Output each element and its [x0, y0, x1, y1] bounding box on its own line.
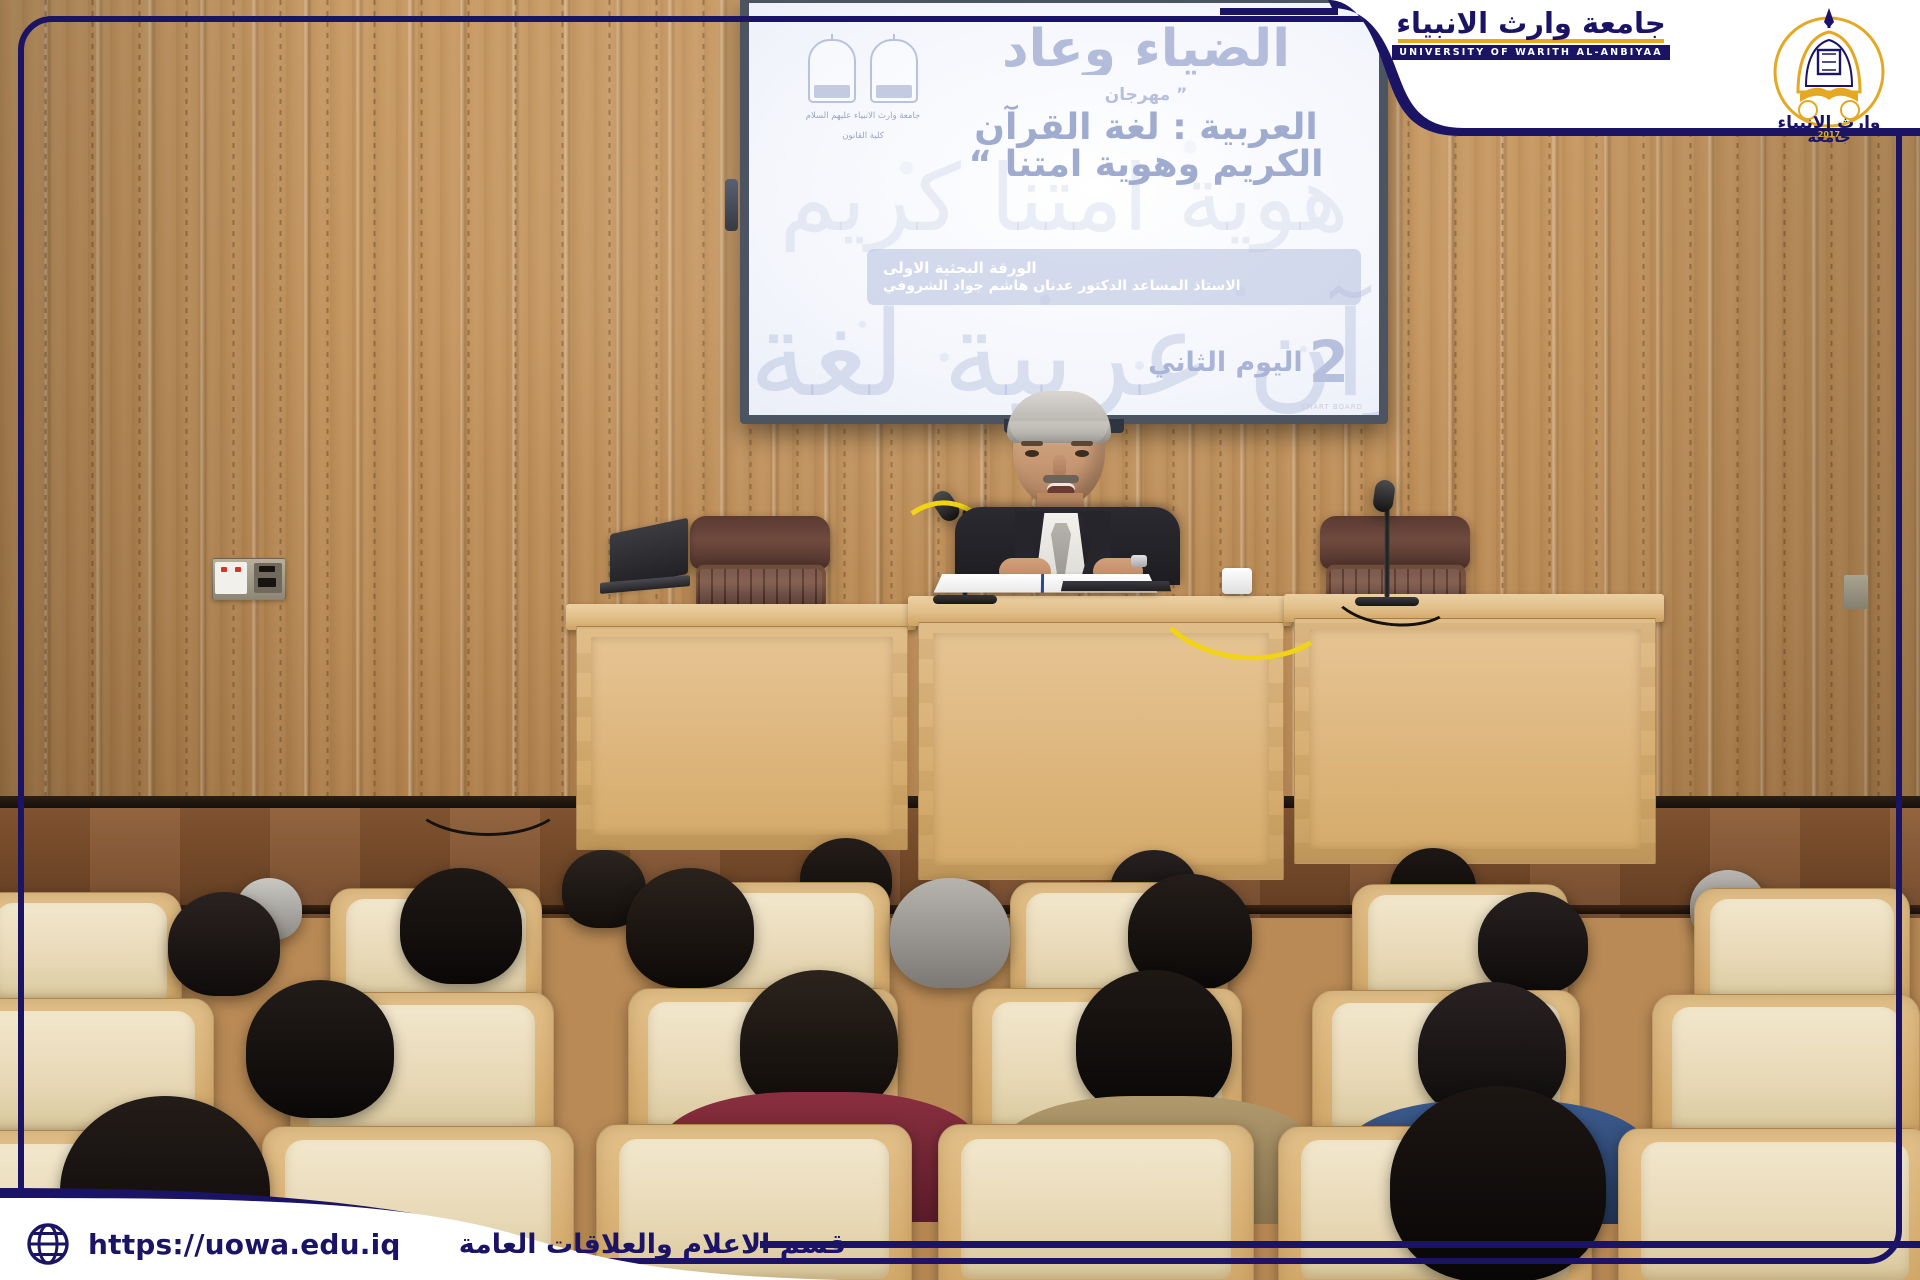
auditorium-seat: [1618, 1128, 1920, 1280]
audience-head: [1478, 892, 1588, 994]
slide-paper-label: الورقة البحثية الاولى: [883, 259, 1037, 278]
speaker-hair: [1007, 391, 1111, 443]
audience-head: [400, 868, 522, 984]
university-wordmark: جامعة وارث الانبياء UNIVERSITY OF WARITH…: [1392, 8, 1670, 60]
desk-left: [576, 626, 908, 850]
desk-right: [1294, 618, 1656, 864]
wall-power-socket-left: [212, 558, 286, 600]
audience-head: [1076, 970, 1232, 1116]
slide-header-block: الضياء وعاد ” مهرجان العربية : لغة القرآ…: [929, 23, 1363, 185]
audience-head: [890, 878, 1010, 988]
slide-crest-caption-line1: جامعة وارث الانبياء عليهم السلام: [783, 110, 943, 123]
wordmark-gold-rule: [1398, 39, 1664, 43]
slide-headline: الضياء وعاد: [929, 23, 1363, 75]
globe-icon: [26, 1222, 70, 1266]
slide-title-line-2: الكريم وهوية امتنا “: [929, 144, 1363, 185]
board-brand-label: SMART BOARD: [1301, 403, 1363, 411]
university-emblem-logo: وارث الانبياء جامعة 2017: [1770, 6, 1888, 144]
audience-head: [168, 892, 280, 996]
photo-banner: ﻗﺮآن ﻋﺮﺑﻴﺔ ﻟﻐﺔ ﻫﻮﻳﺔ اﻣﺘﻨﺎ ﻛﺮﻳﻢ جامعة وار…: [0, 0, 1920, 1280]
university-wordmark-arabic: جامعة وارث الانبياء: [1392, 8, 1670, 38]
slide-presenter-bar: الورقة البحثية الاولى الاستاذ المساعد ال…: [867, 249, 1361, 305]
slide-crest-caption-line2: كلية القانون: [783, 130, 943, 143]
emblem-year: 2017: [1818, 130, 1840, 139]
presenter-chair-left: [690, 516, 830, 608]
floor-cable: [410, 760, 566, 836]
slide-crest-logos: جامعة وارث الانبياء عليهم السلام كلية ال…: [783, 39, 943, 143]
university-wordmark-english: UNIVERSITY OF WARITH AL-ANBIYAA: [1392, 45, 1670, 60]
audience-head: [626, 868, 754, 988]
footer-rule: [760, 1241, 1920, 1248]
presenter-folder: [1061, 581, 1171, 591]
auditorium-seat: [938, 1124, 1254, 1280]
desk-white-object: [1222, 568, 1252, 594]
slide-day-label: اليوم الثاني: [1148, 347, 1303, 378]
board-stylus: [725, 179, 738, 231]
audience-head: [246, 980, 394, 1118]
college-of-law-crest-icon: [870, 39, 918, 103]
speaker-wristwatch: [1131, 555, 1147, 567]
website-url[interactable]: https://uowa.edu.iq: [88, 1228, 401, 1261]
slide-presenter-name: الاستاذ المساعد الدكتور عدنان هاشم جواد …: [883, 278, 1241, 296]
university-crest-icon: [808, 39, 856, 103]
slide-festival-label: ” مهرجان: [929, 85, 1363, 105]
slide-day-indicator: 2 اليوم الثاني: [1148, 338, 1349, 387]
department-label: قسم الاعلام والعلاقات العامة: [459, 1229, 846, 1260]
wall-power-socket-right: [1844, 575, 1868, 609]
speaker-person: [955, 395, 1180, 585]
projection-screen: ﻗﺮآن ﻋﺮﺑﻴﺔ ﻟﻐﺔ ﻫﻮﻳﺔ اﻣﺘﻨﺎ ﻛﺮﻳﻢ جامعة وار…: [740, 0, 1388, 424]
audience-head: [1390, 1086, 1606, 1280]
footer-content: https://uowa.edu.iq قسم الاعلام والعلاقا…: [26, 1222, 846, 1266]
lecture-hall-photo: ﻗﺮآن ﻋﺮﺑﻴﺔ ﻟﻐﺔ ﻫﻮﻳﺔ اﻣﺘﻨﺎ ﻛﺮﻳﻢ جامعة وار…: [0, 0, 1920, 1280]
laptop: [600, 526, 690, 590]
slide-day-number: 2: [1309, 338, 1349, 387]
slide-title-line-1: العربية : لغة القرآن: [929, 107, 1363, 148]
